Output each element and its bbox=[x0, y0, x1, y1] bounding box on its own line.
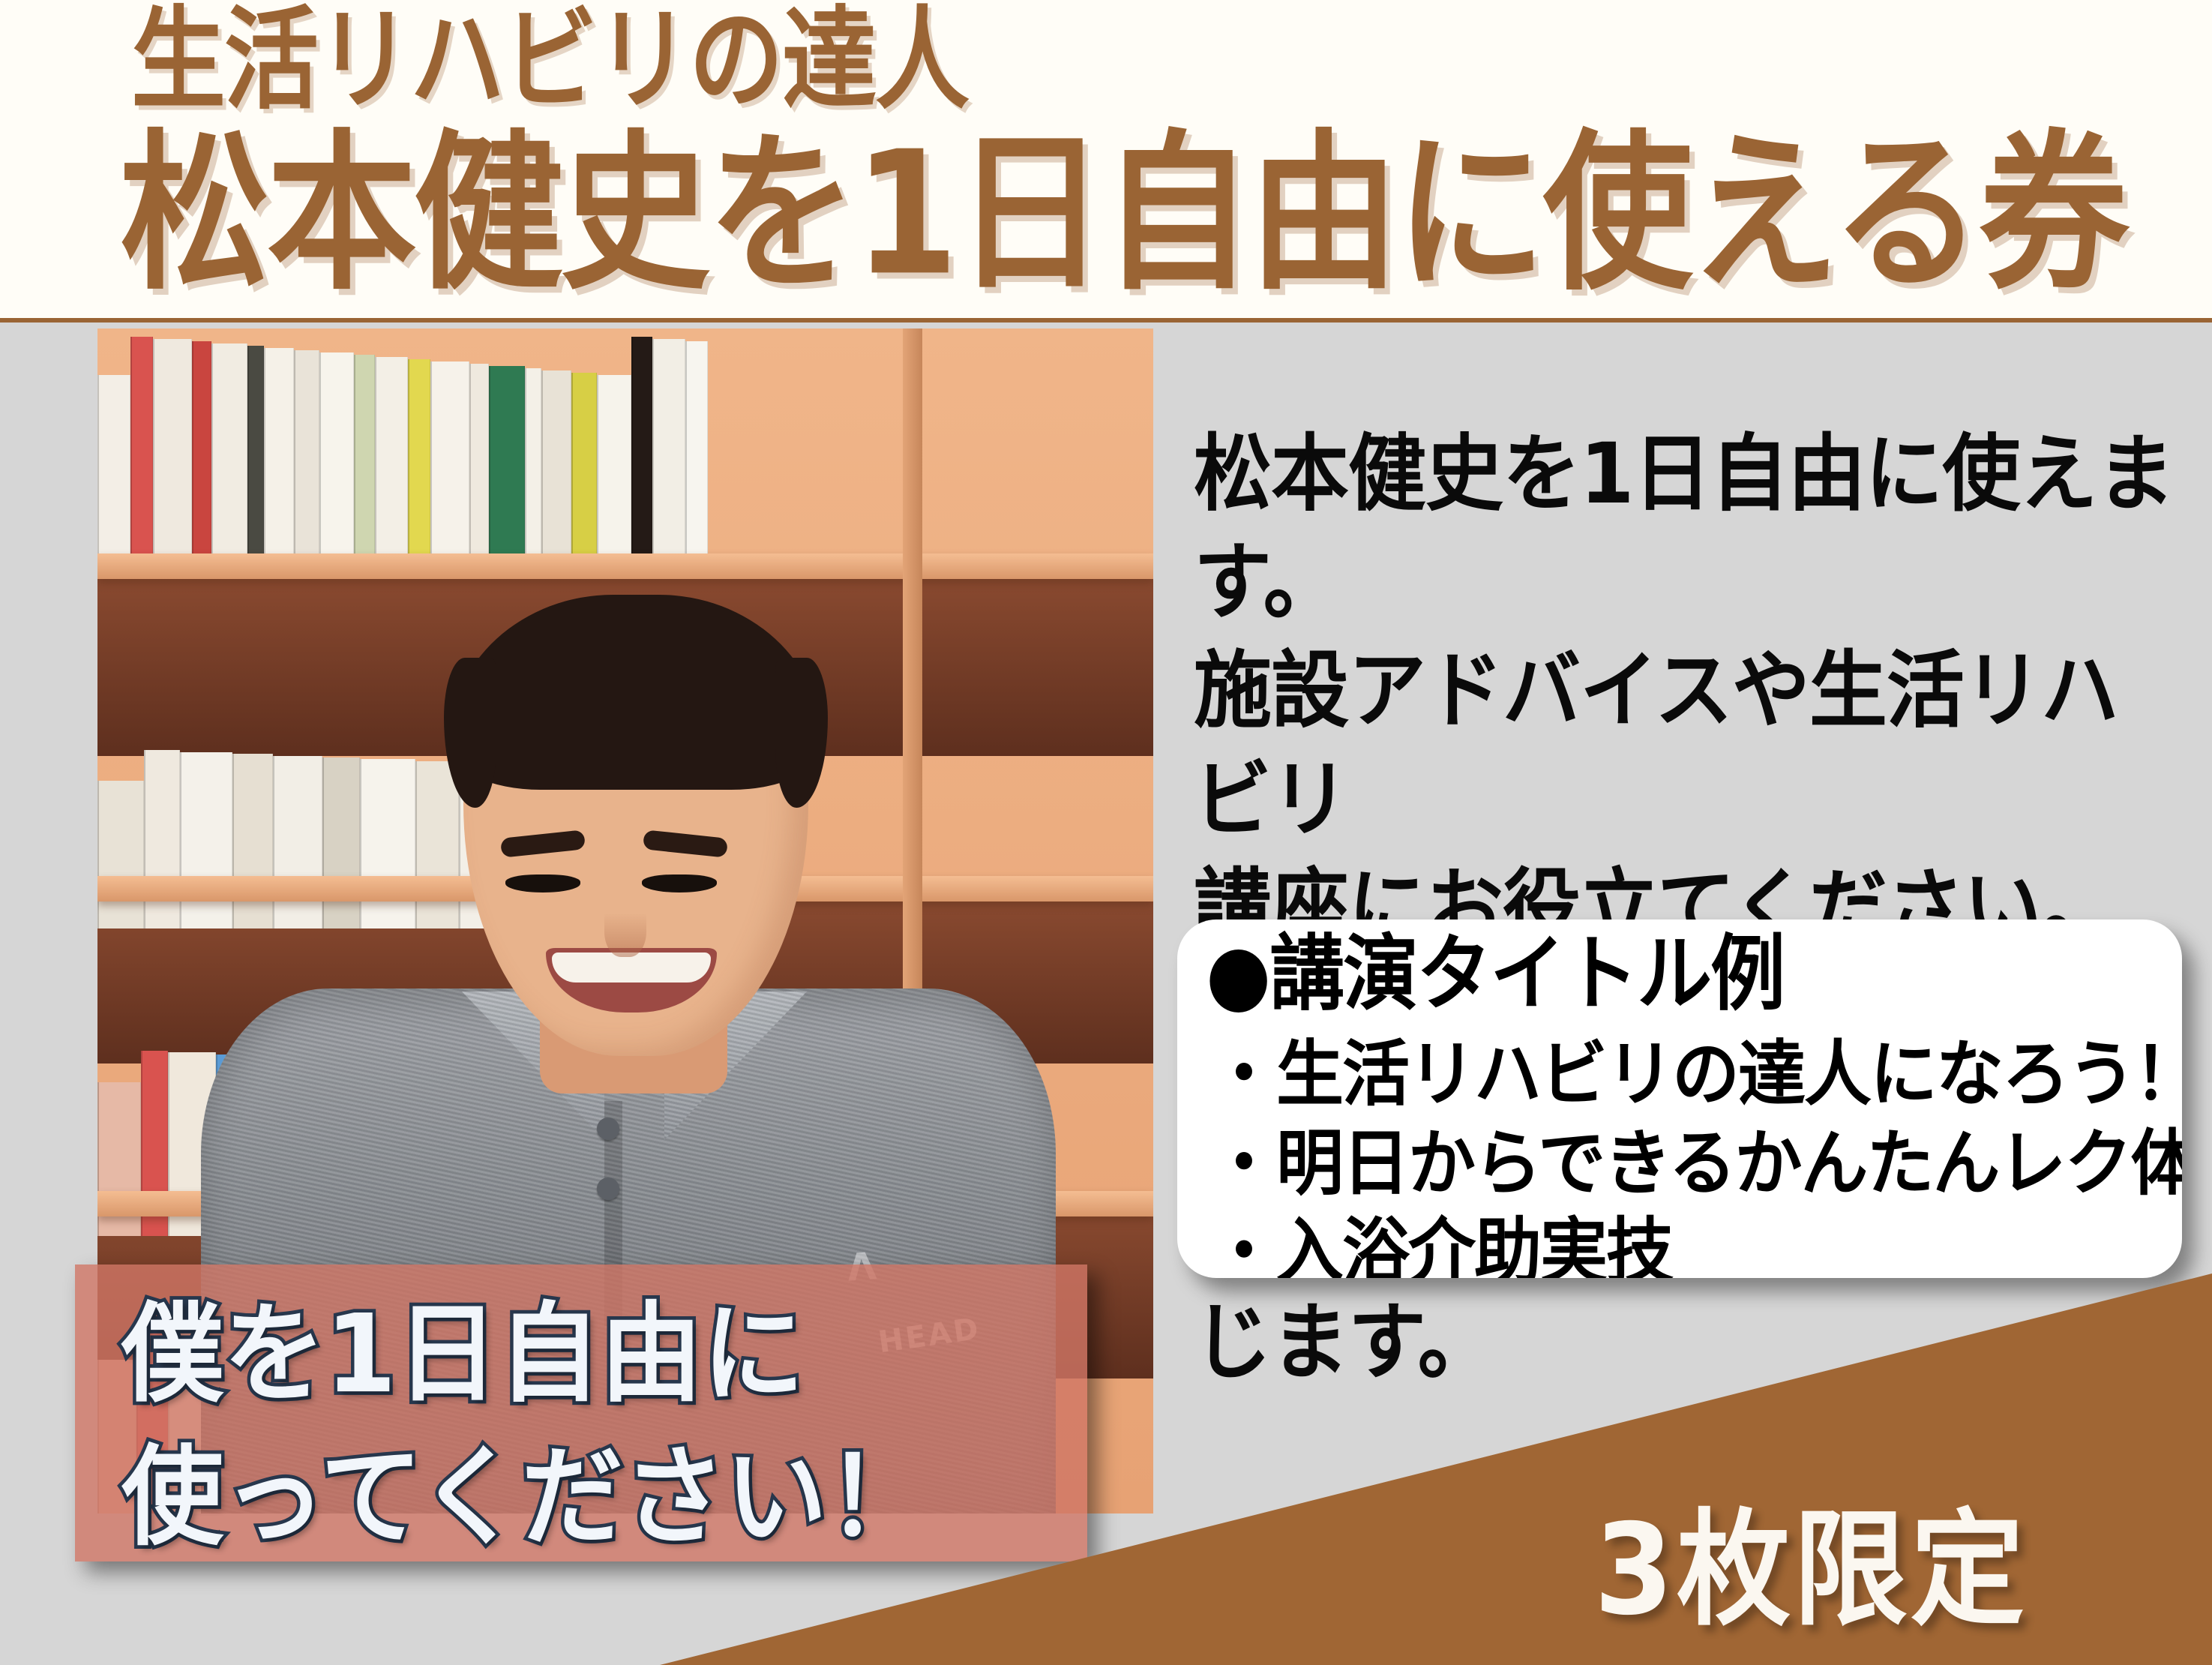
book-spine bbox=[264, 348, 294, 559]
book-spine bbox=[571, 373, 597, 559]
book-spine bbox=[469, 364, 489, 559]
book-row-top bbox=[97, 334, 1153, 559]
book-spine bbox=[319, 352, 354, 559]
lecture-titles-heading: ●講演タイトル例 bbox=[1206, 933, 1784, 1015]
book-spine bbox=[354, 355, 375, 559]
pink-callout-box: 僕を1日自由に 使ってください！ bbox=[75, 1264, 1087, 1561]
book-spine bbox=[211, 343, 247, 559]
book-spine bbox=[685, 341, 708, 559]
teeth bbox=[552, 952, 711, 982]
list-item: ・生活リハビリの達人になろう！ bbox=[1210, 1030, 2170, 1119]
shirt-button-lower bbox=[597, 1177, 619, 1200]
eye-left bbox=[505, 874, 580, 892]
shirt-button-upper bbox=[597, 1117, 619, 1140]
book-spine bbox=[144, 750, 180, 928]
eye-right bbox=[642, 874, 717, 892]
book-spine bbox=[294, 350, 319, 559]
book-spine bbox=[375, 357, 408, 559]
book-spine bbox=[541, 370, 571, 559]
book-spine bbox=[430, 361, 469, 559]
book-spine bbox=[153, 339, 192, 559]
quantity-limit-badge: 3枚限定 bbox=[1594, 1507, 2028, 1633]
book-spine bbox=[489, 366, 525, 559]
header-kicker: 生活リハビリの達人 bbox=[131, 4, 968, 116]
book-spine bbox=[652, 339, 685, 559]
book-spine bbox=[525, 368, 541, 559]
page-title: 松本健史を1日自由に使える券 bbox=[120, 129, 2126, 299]
book-spine bbox=[408, 359, 430, 559]
lecture-titles-card: ●講演タイトル例 ・生活リハビリの達人になろう！・明日からできるかんたんレク体操… bbox=[1177, 919, 2182, 1278]
hair bbox=[448, 595, 823, 790]
list-item: ・入浴介助実技 bbox=[1210, 1208, 2170, 1278]
header-banner: 生活リハビリの達人 松本健史を1日自由に使える券 bbox=[0, 0, 2212, 322]
book-spine bbox=[130, 337, 153, 559]
header-divider-rule bbox=[0, 318, 2212, 322]
book-spine bbox=[631, 337, 652, 559]
book-spine bbox=[597, 375, 631, 559]
pink-callout-text: 僕を1日自由に 使ってください！ bbox=[121, 1284, 929, 1570]
book-spine bbox=[97, 375, 130, 559]
lecture-titles-list: ・生活リハビリの達人になろう！・明日からできるかんたんレク体操・入浴介助実技 ふ… bbox=[1210, 1030, 2170, 1278]
list-item: ・明日からできるかんたんレク体操 bbox=[1210, 1119, 2170, 1207]
book-spine bbox=[97, 781, 144, 928]
nose bbox=[604, 894, 646, 957]
book-spine bbox=[247, 346, 264, 559]
book-spine bbox=[192, 341, 211, 559]
poster-root: 生活リハビリの達人 松本健史を1日自由に使える券 Λ bbox=[0, 0, 2212, 1665]
